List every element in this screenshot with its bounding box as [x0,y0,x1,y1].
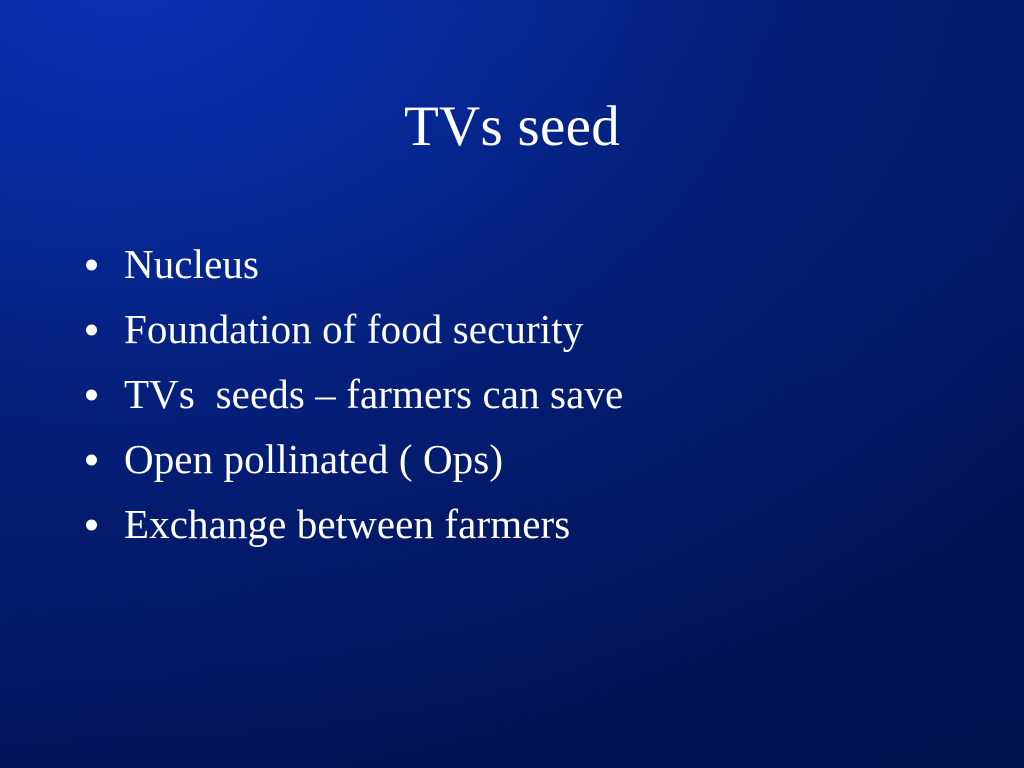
bullet-text: Nucleus [124,244,259,285]
list-item: Open pollinated ( Ops) [86,427,946,492]
list-item: TVs seeds – farmers can save [86,362,946,427]
bullet-text: Foundation of food security [124,309,583,350]
slide-title: TVs seed [0,97,1024,157]
bullet-dot-icon [86,259,97,270]
bullet-dot-icon [86,389,97,400]
bullet-dot-icon [86,454,97,465]
bullet-dot-icon [86,324,97,335]
bullet-list: Nucleus Foundation of food security TVs … [86,232,946,557]
list-item: Nucleus [86,232,946,297]
bullet-text: TVs seeds – farmers can save [124,374,623,415]
presentation-slide: TVs seed Nucleus Foundation of food secu… [0,0,1024,768]
list-item: Exchange between farmers [86,492,946,557]
bullet-text: Open pollinated ( Ops) [124,439,503,480]
bullet-text: Exchange between farmers [124,504,570,545]
bullet-dot-icon [86,519,97,530]
list-item: Foundation of food security [86,297,946,362]
